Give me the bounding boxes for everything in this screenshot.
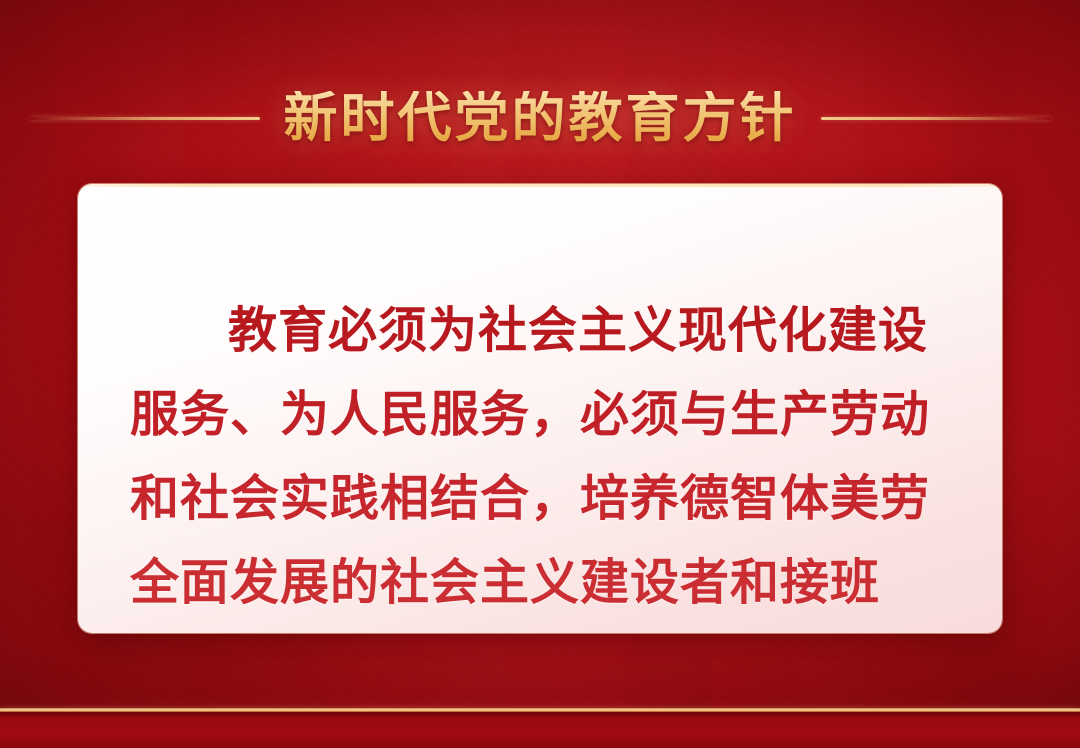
poster-canvas: 新时代党的教育方针 教育必须为社会主义现代化建设服务、为人民服务，必须与生产劳动… (0, 0, 1080, 748)
card-top-sheen (78, 184, 1002, 187)
page-title: 新时代党的教育方针 (284, 91, 797, 145)
quote-card: 教育必须为社会主义现代化建设服务、为人民服务，必须与生产劳动和社会实践相结合，培… (78, 184, 1002, 633)
title-rule-right-icon (821, 117, 1051, 120)
quote-text: 教育必须为社会主义现代化建设服务、为人民服务，必须与生产劳动和社会实践相结合，培… (130, 289, 956, 633)
title-rule-left-icon (30, 117, 260, 120)
bottom-plinth-shadow (0, 712, 1080, 718)
title-row: 新时代党的教育方针 (0, 78, 1080, 158)
